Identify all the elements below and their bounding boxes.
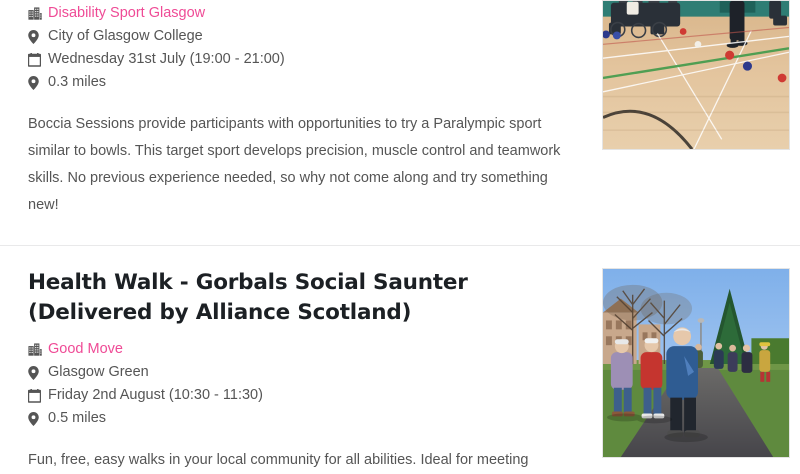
event-distance-text: 0.5 miles xyxy=(48,407,106,430)
event-location-text: City of Glasgow College xyxy=(48,25,203,48)
event-thumbnail[interactable] xyxy=(602,268,790,458)
event-distance-row: 0.3 miles xyxy=(28,71,573,94)
event-meta-list: Good Move Glasgow Green xyxy=(28,338,573,430)
event-details: Health Walk - Gorbals Social Saunter (De… xyxy=(28,268,573,474)
event-thumbnail[interactable] xyxy=(602,0,790,150)
calendar-icon xyxy=(28,48,48,71)
event-location-row: Glasgow Green xyxy=(28,361,573,384)
event-date-row: Friday 2nd August (10:30 - 11:30) xyxy=(28,384,573,407)
event-card[interactable]: Disability Sport Glasgow City of Glasgow… xyxy=(0,0,800,245)
event-date-text: Friday 2nd August (10:30 - 11:30) xyxy=(48,384,263,407)
building-icon xyxy=(28,338,48,361)
event-organisation-row[interactable]: Good Move xyxy=(28,338,573,361)
building-icon xyxy=(28,2,48,25)
event-location-row: City of Glasgow College xyxy=(28,25,573,48)
event-description: Fun, free, easy walks in your local comm… xyxy=(28,447,573,474)
calendar-icon xyxy=(28,384,48,407)
event-distance-text: 0.3 miles xyxy=(48,71,106,94)
event-listing-page: Disability Sport Glasgow City of Glasgow… xyxy=(0,0,800,450)
map-pin-icon xyxy=(28,71,48,94)
map-pin-icon xyxy=(28,25,48,48)
event-date-row: Wednesday 31st July (19:00 - 21:00) xyxy=(28,48,573,71)
map-pin-icon xyxy=(28,361,48,384)
map-pin-icon xyxy=(28,407,48,430)
event-title[interactable]: Health Walk - Gorbals Social Saunter (De… xyxy=(28,268,573,328)
event-details: Disability Sport Glasgow City of Glasgow… xyxy=(28,0,573,219)
event-distance-row: 0.5 miles xyxy=(28,407,573,430)
event-organisation-link[interactable]: Disability Sport Glasgow xyxy=(48,2,205,25)
event-description: Boccia Sessions provide participants wit… xyxy=(28,111,573,219)
event-organisation-row[interactable]: Disability Sport Glasgow xyxy=(28,2,573,25)
event-location-text: Glasgow Green xyxy=(48,361,149,384)
event-date-text: Wednesday 31st July (19:00 - 21:00) xyxy=(48,48,285,71)
event-organisation-link[interactable]: Good Move xyxy=(48,338,123,361)
event-meta-list: Disability Sport Glasgow City of Glasgow… xyxy=(28,2,573,94)
event-card[interactable]: Health Walk - Gorbals Social Saunter (De… xyxy=(0,245,800,474)
